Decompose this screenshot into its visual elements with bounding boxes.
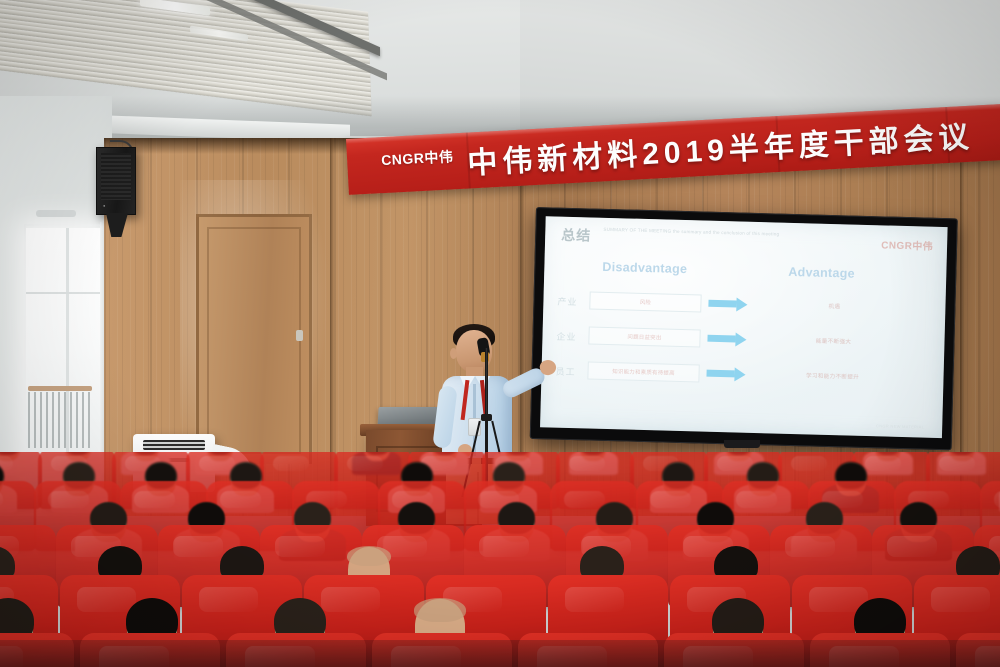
chair-highlight bbox=[785, 536, 835, 557]
chair-highlight bbox=[569, 456, 605, 471]
slide-disadvantage-box: 知识能力和素质有待提高 bbox=[587, 361, 699, 382]
door-handle[interactable] bbox=[296, 330, 303, 341]
chair-highlight bbox=[791, 456, 827, 471]
presenter-ear bbox=[450, 348, 457, 359]
balustrade-bar bbox=[58, 392, 60, 448]
slide-advantage-text: 学习和能力不断提升 bbox=[757, 370, 907, 382]
chair-highlight bbox=[199, 456, 235, 471]
chair-highlight bbox=[939, 456, 975, 471]
chair-highlight bbox=[931, 587, 990, 612]
chair-highlight bbox=[650, 491, 692, 508]
slide-column-header-disadvantage: Disadvantage bbox=[602, 260, 687, 276]
balustrade-bar bbox=[34, 392, 36, 448]
slide-arrow-icon bbox=[707, 335, 735, 343]
balcony-handrail bbox=[28, 386, 92, 391]
slide-row-label: 员工 bbox=[555, 365, 575, 379]
balustrade-bar bbox=[70, 392, 72, 448]
slide-advantage-text: 机遇 bbox=[759, 300, 909, 312]
chair-highlight bbox=[865, 456, 901, 471]
balustrade-bar bbox=[76, 392, 78, 448]
door-closer-arm bbox=[36, 210, 76, 217]
slide-cngr-logo: CNGR中伟 bbox=[881, 236, 933, 252]
foreground-shadow bbox=[0, 640, 1000, 667]
speaker-grille bbox=[101, 153, 131, 200]
chair-highlight bbox=[275, 536, 325, 557]
chair-highlight bbox=[479, 536, 529, 557]
chair-highlight bbox=[0, 491, 3, 508]
chair-highlight bbox=[564, 491, 606, 508]
audience-seating-area bbox=[0, 452, 1000, 667]
screen-stand bbox=[724, 440, 760, 448]
chair-highlight bbox=[199, 587, 258, 612]
chair-highlight bbox=[736, 491, 778, 508]
balustrade-bar bbox=[46, 392, 48, 448]
audience-member-hair bbox=[347, 546, 391, 566]
balustrade-bar bbox=[52, 392, 54, 448]
chair-highlight bbox=[134, 491, 176, 508]
balustrade-bar bbox=[28, 392, 30, 448]
slide-disadvantage-box: 问题日益突出 bbox=[588, 326, 700, 347]
projection-screen-bezel: 总结 SUMMARY OF THE MEETING the summary an… bbox=[530, 207, 958, 450]
chair-highlight bbox=[994, 491, 1000, 508]
chair-highlight bbox=[173, 536, 223, 557]
chair-highlight bbox=[321, 587, 380, 612]
slide-row-label: 产业 bbox=[557, 295, 577, 309]
chair-highlight bbox=[347, 456, 383, 471]
balustrade-bar bbox=[40, 392, 42, 448]
chair-highlight bbox=[887, 536, 937, 557]
slide-disadvantage-box: 风险 bbox=[589, 291, 701, 312]
slide-disadvantage-text: 问题日益突出 bbox=[589, 331, 699, 342]
balustrade-bar bbox=[64, 392, 66, 448]
balcony-balustrade bbox=[28, 392, 94, 448]
slide-title: 总结 bbox=[561, 225, 592, 246]
window bbox=[26, 228, 100, 490]
slide-column-header-advantage: Advantage bbox=[788, 265, 855, 281]
speaker-brand-label: ● bbox=[103, 203, 106, 208]
slide-row-label: 企业 bbox=[556, 330, 576, 344]
banner-cngr-logo: CNGR中伟 bbox=[381, 146, 454, 170]
chair-highlight bbox=[77, 587, 136, 612]
slide-disadvantage-text: 风险 bbox=[590, 297, 700, 308]
projection-screen-surface[interactable]: 总结 SUMMARY OF THE MEETING the summary an… bbox=[540, 216, 948, 438]
balustrade-bar bbox=[88, 392, 90, 448]
conference-hall-photo: ● CNGR中伟 中伟新材料2019半年度干部会议 总结 SUMMARY OF … bbox=[0, 0, 1000, 667]
chair-highlight bbox=[565, 587, 624, 612]
window-transom bbox=[26, 292, 100, 294]
chair-highlight bbox=[48, 491, 90, 508]
chair-highlight bbox=[273, 456, 309, 471]
slide-arrow-icon bbox=[706, 370, 734, 378]
chair-highlight bbox=[220, 491, 262, 508]
wall-loudspeaker: ● bbox=[96, 147, 136, 215]
window-mullion bbox=[66, 228, 69, 490]
slide-disadvantage-text: 知识能力和素质有待提高 bbox=[588, 366, 698, 377]
slide-arrow-icon bbox=[708, 300, 736, 308]
audience-member-hair bbox=[414, 598, 466, 622]
slide-advantage-text: 能量不断强大 bbox=[758, 335, 908, 347]
air-conditioner-vent bbox=[143, 440, 205, 450]
balustrade-bar bbox=[82, 392, 84, 448]
side-door[interactable] bbox=[196, 214, 312, 464]
